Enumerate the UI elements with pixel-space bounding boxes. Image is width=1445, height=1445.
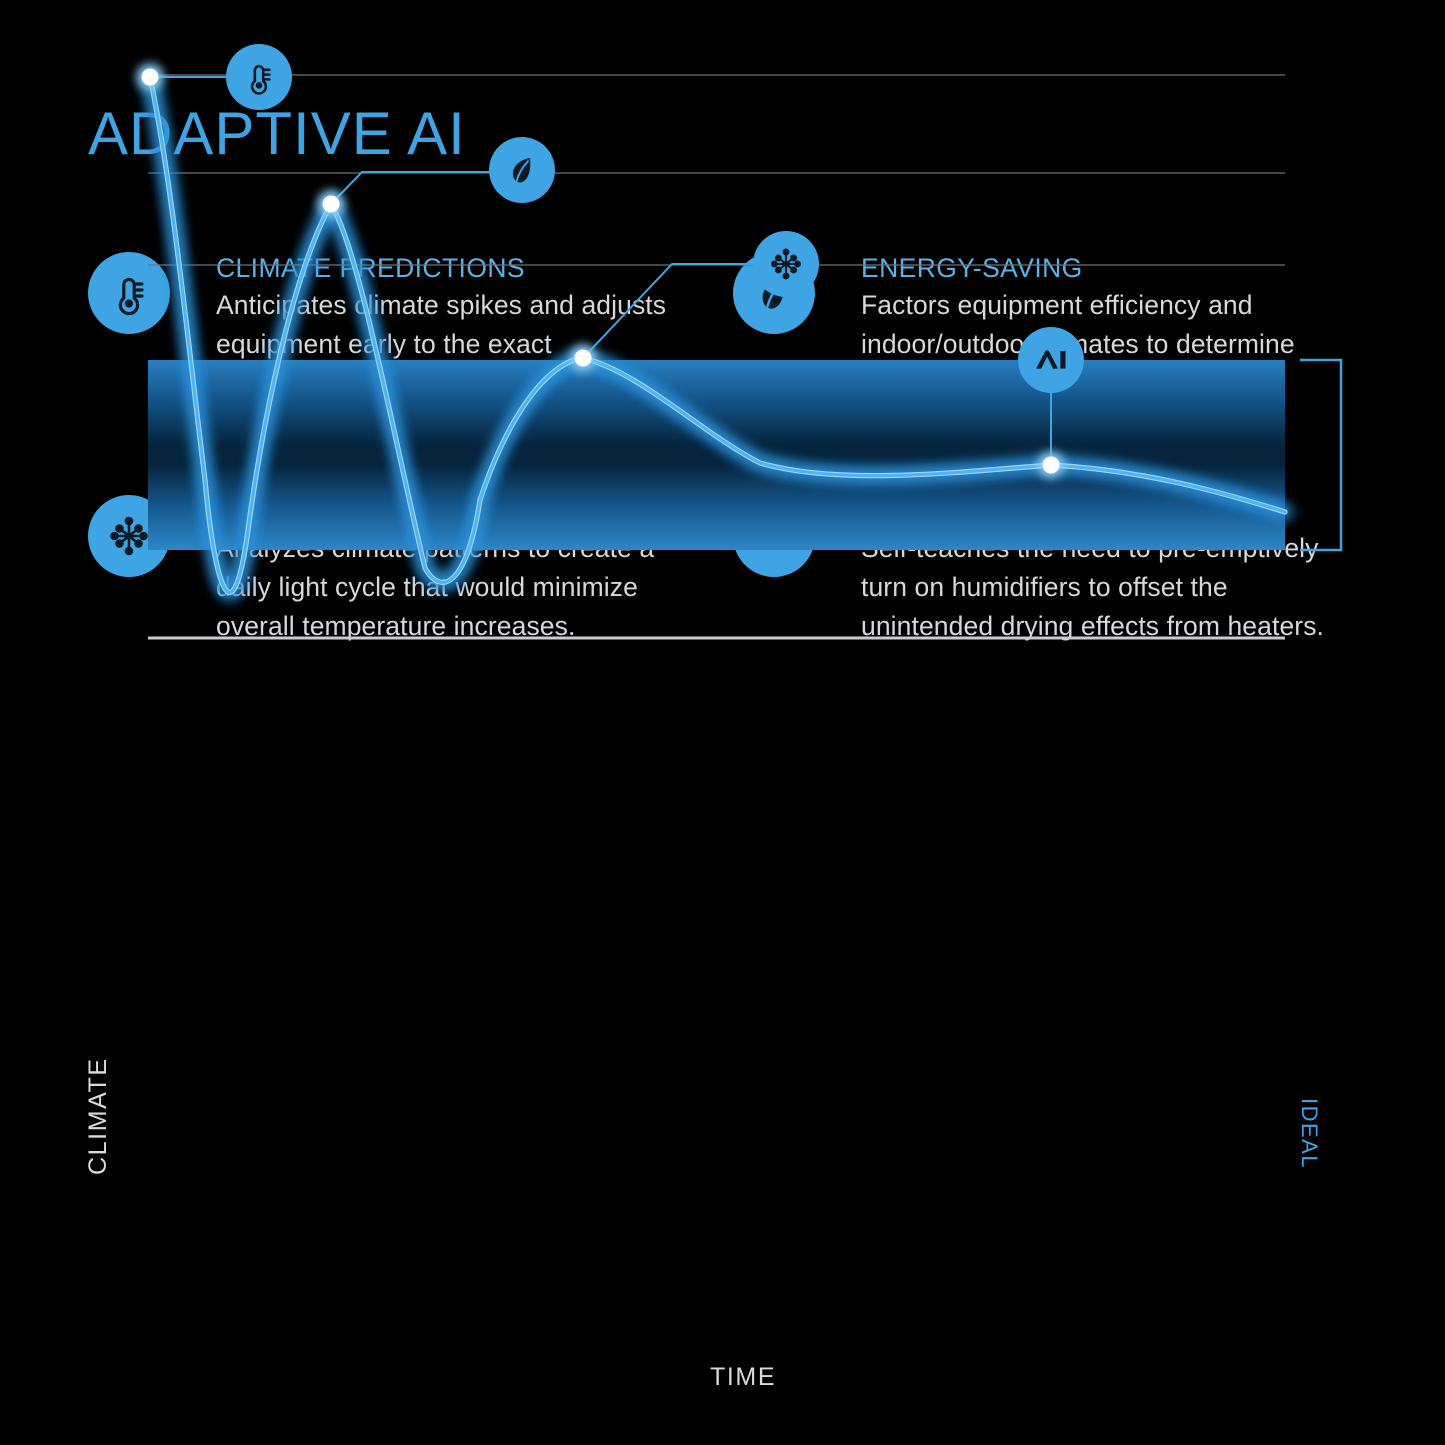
x-axis-label: TIME bbox=[710, 1363, 776, 1392]
ideal-bracket bbox=[1300, 360, 1341, 550]
ideal-band bbox=[148, 360, 1285, 550]
infographic-root: ADAPTIVE AI CLIMATE PREDICTIONS Anticipa… bbox=[0, 0, 1445, 1445]
chart-callout-leaf bbox=[489, 137, 555, 203]
y-axis-label: CLIMATE bbox=[84, 1057, 113, 1175]
climate-chart bbox=[0, 700, 1445, 1445]
chart-callout-network bbox=[753, 231, 819, 297]
chart-callout-ai bbox=[1018, 327, 1084, 393]
chart-callout-thermometer bbox=[226, 44, 292, 110]
ideal-band-label: IDEAL bbox=[1296, 1098, 1322, 1169]
